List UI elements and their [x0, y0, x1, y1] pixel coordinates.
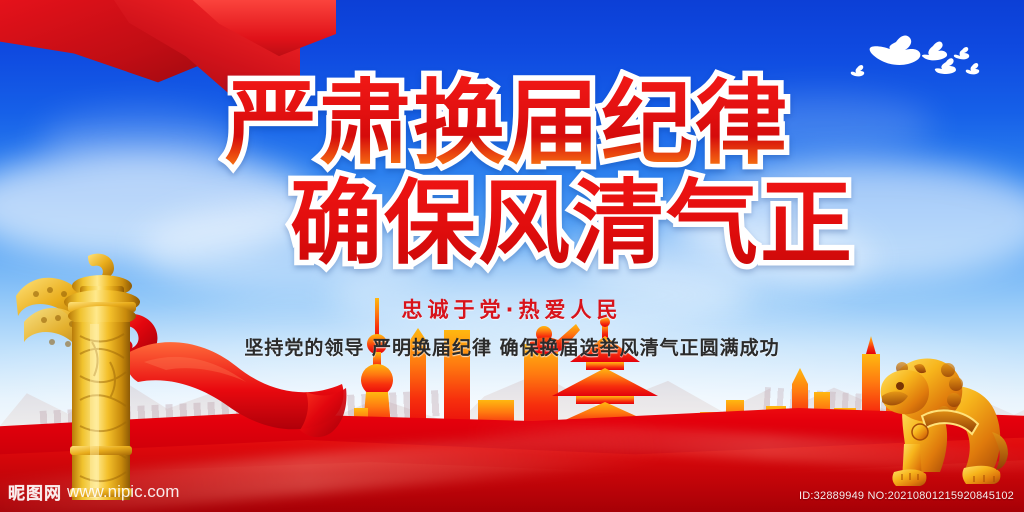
watermark-logo: 昵图网	[8, 479, 62, 504]
lion-eye	[896, 382, 904, 390]
subtitle-red-line: 忠诚于党·热爱人民	[0, 294, 1024, 324]
image-id-text: ID:32889949 NO:20210801215920845102	[799, 490, 1014, 502]
golden-huabiao-pillar	[10, 250, 180, 500]
dove-icon	[935, 58, 956, 74]
flying-doves	[844, 24, 984, 86]
dove-icon	[851, 65, 865, 76]
headline-line-1-text: 严肃换届纪律	[225, 70, 789, 177]
watermark-url: www.nipic.com	[67, 482, 179, 502]
dove-icon	[922, 42, 947, 61]
headline-line-2: 确保风清气正 确保风清气正	[120, 178, 1024, 270]
dove-icon	[954, 47, 969, 59]
subtitle-block: 忠诚于党·热爱人民 坚持党的领导 严明换届纪律 确保换届选举风清气正圆满成功	[0, 294, 1024, 360]
headline-line-1: 严肃换届纪律 严肃换届纪律	[0, 78, 1024, 170]
headline-block: 严肃换届纪律 严肃换届纪律 确保风清气正 确保风清气正	[0, 78, 1024, 270]
watermark: 昵图网 www.nipic.com	[8, 479, 179, 504]
subtitle-dark-line: 坚持党的领导 严明换届纪律 确保换届选举风清气正圆满成功	[0, 333, 1024, 360]
dove-icon	[966, 63, 980, 74]
lion-bell	[912, 424, 928, 440]
dove-icon	[870, 35, 921, 65]
lion-head	[881, 370, 929, 414]
huabiao-band	[70, 446, 132, 455]
poster-canvas: 严肃换届纪律 严肃换届纪律 确保风清气正 确保风清气正 忠诚于党·热爱人民 坚持…	[0, 0, 1024, 512]
golden-guardian-lion	[868, 340, 1018, 490]
headline-line-2-text: 确保风清气正	[290, 170, 854, 277]
